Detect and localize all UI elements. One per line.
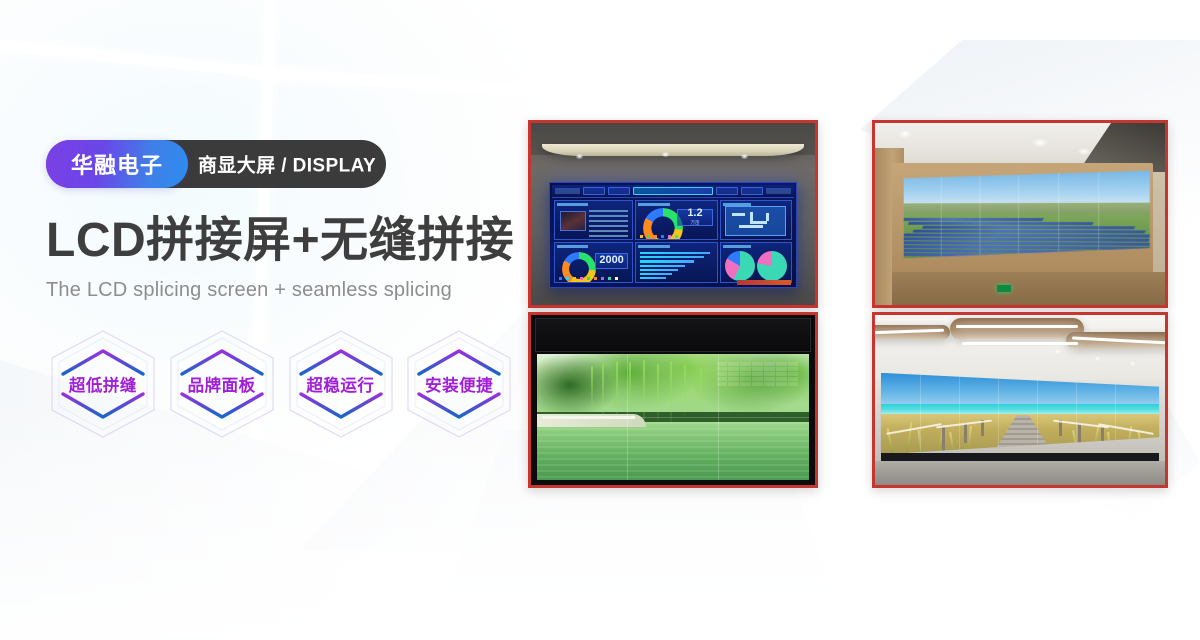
boardwalk-post	[942, 427, 945, 451]
wall-base-panel	[892, 272, 1165, 305]
polished-floor	[875, 461, 1165, 485]
feature-hexagon-list: 超低拼缝 品牌面板	[46, 328, 516, 440]
dashboard-card-intro	[554, 200, 633, 240]
dashboard-header	[552, 185, 793, 198]
text-lines	[589, 210, 629, 231]
kpi-value: 2000	[599, 255, 623, 266]
kpi-box: 1.2 万亩	[677, 209, 712, 227]
feature-hexagon-item: 超低拼缝	[46, 328, 160, 440]
kpi-value: 1.2	[687, 208, 702, 219]
lake-water	[537, 422, 810, 480]
dashboard-card-piecharts	[720, 242, 792, 282]
pie-chart	[757, 251, 787, 281]
gallery-photo-solar-farm-video-wall[interactable]	[872, 120, 1168, 308]
screen-seam	[537, 417, 810, 418]
pie-chart-group	[723, 253, 787, 278]
video-wall-screen	[903, 171, 1149, 261]
dashboard-tab	[741, 187, 763, 194]
flow-diagram	[725, 206, 787, 236]
screen-seam	[1076, 373, 1077, 455]
ceiling-downlight	[1032, 138, 1048, 147]
feature-hexagon-item: 品牌面板	[165, 328, 279, 440]
screen-seam	[941, 173, 942, 259]
ceiling-light-strip	[956, 325, 1078, 328]
feature-label: 超稳运行	[306, 372, 374, 396]
page-subtitle: The LCD splicing screen + seamless splic…	[46, 279, 516, 302]
category-badge-label: 商显大屏 / DISPLAY	[198, 151, 376, 178]
screen-seam	[1018, 172, 1019, 259]
banner-root: 商显大屏 / DISPLAY 华融电子 LCD拼接屏+无缝拼接 The LCD …	[0, 0, 1200, 640]
feature-label: 品牌面板	[188, 372, 256, 396]
chart-legend	[640, 235, 712, 238]
ceiling-spotlight	[662, 152, 669, 157]
dashboard-title-tab	[633, 187, 713, 194]
brand-badge: 华融电子	[46, 140, 188, 188]
page-title: LCD拼接屏+无缝拼接	[46, 216, 516, 267]
photo-content	[531, 315, 815, 485]
kpi-box: 2000	[595, 253, 629, 268]
feature-label: 安装便捷	[425, 372, 493, 396]
dashboard-body: 1.2 万亩	[552, 198, 793, 285]
photo-content: 1.2 万亩	[531, 123, 815, 305]
video-wall-screen: 1.2 万亩	[549, 182, 796, 288]
dashboard-row-top: 1.2 万亩	[554, 200, 791, 240]
feature-hexagon-item: 超稳运行	[284, 328, 398, 440]
brand-badge-label: 华融电子	[71, 148, 163, 180]
screen-seam	[1037, 373, 1038, 455]
dashboard-card-flow	[720, 200, 792, 240]
screen-seam	[1098, 171, 1099, 260]
chart-legend	[559, 277, 628, 280]
feature-label: 超低拼缝	[69, 372, 137, 396]
screen-seam	[998, 373, 999, 455]
pie-chart	[725, 251, 755, 281]
gallery-photo-beach-boardwalk-video-wall[interactable]	[872, 312, 1168, 488]
left-content-column: 商显大屏 / DISPLAY 华融电子 LCD拼接屏+无缝拼接 The LCD …	[46, 140, 516, 440]
photo-content	[875, 123, 1165, 305]
ceiling-cove	[950, 318, 1083, 340]
calendar-overlay	[717, 360, 799, 418]
screen-seam	[959, 373, 960, 455]
dashboard-ui: 1.2 万亩	[550, 183, 795, 287]
upper-dark-panels	[535, 318, 810, 352]
feature-hexagon-item: 安装便捷	[402, 328, 516, 440]
dashboard-row-bottom: 2000	[554, 242, 791, 282]
boardwalk-post	[1078, 423, 1081, 443]
dashboard-tab	[608, 187, 630, 194]
ticker-banner	[737, 280, 791, 285]
dashboard-tab	[716, 187, 738, 194]
gallery-photo-dashboard-video-wall[interactable]: 1.2 万亩	[528, 120, 818, 308]
screen-seam	[920, 373, 921, 455]
bar-chart	[640, 252, 712, 280]
dashboard-timestamp	[555, 188, 580, 194]
dashboard-status	[766, 188, 791, 194]
calendar-grid	[717, 362, 799, 386]
brand-badge-group: 商显大屏 / DISPLAY 华融电子	[46, 140, 386, 188]
dashboard-card-barchart	[635, 242, 717, 282]
boardwalk-post	[964, 423, 967, 443]
screen-seam	[979, 173, 980, 259]
dashboard-tab	[583, 187, 605, 194]
photo-content	[875, 315, 1165, 485]
video-wall-screen	[537, 354, 810, 480]
thumbnail-image	[560, 211, 586, 231]
kpi-unit: 万亩	[690, 220, 699, 226]
exit-sign-icon	[997, 285, 1011, 292]
gallery-photo-willow-lake-video-wall[interactable]	[528, 312, 818, 488]
dashboard-card-kpi2: 2000	[554, 242, 633, 282]
ceiling-downlight	[1055, 349, 1060, 354]
screen-seam	[1058, 172, 1059, 260]
ceiling-light-strip	[962, 342, 1078, 345]
dashboard-card-kpi: 1.2 万亩	[635, 200, 717, 240]
